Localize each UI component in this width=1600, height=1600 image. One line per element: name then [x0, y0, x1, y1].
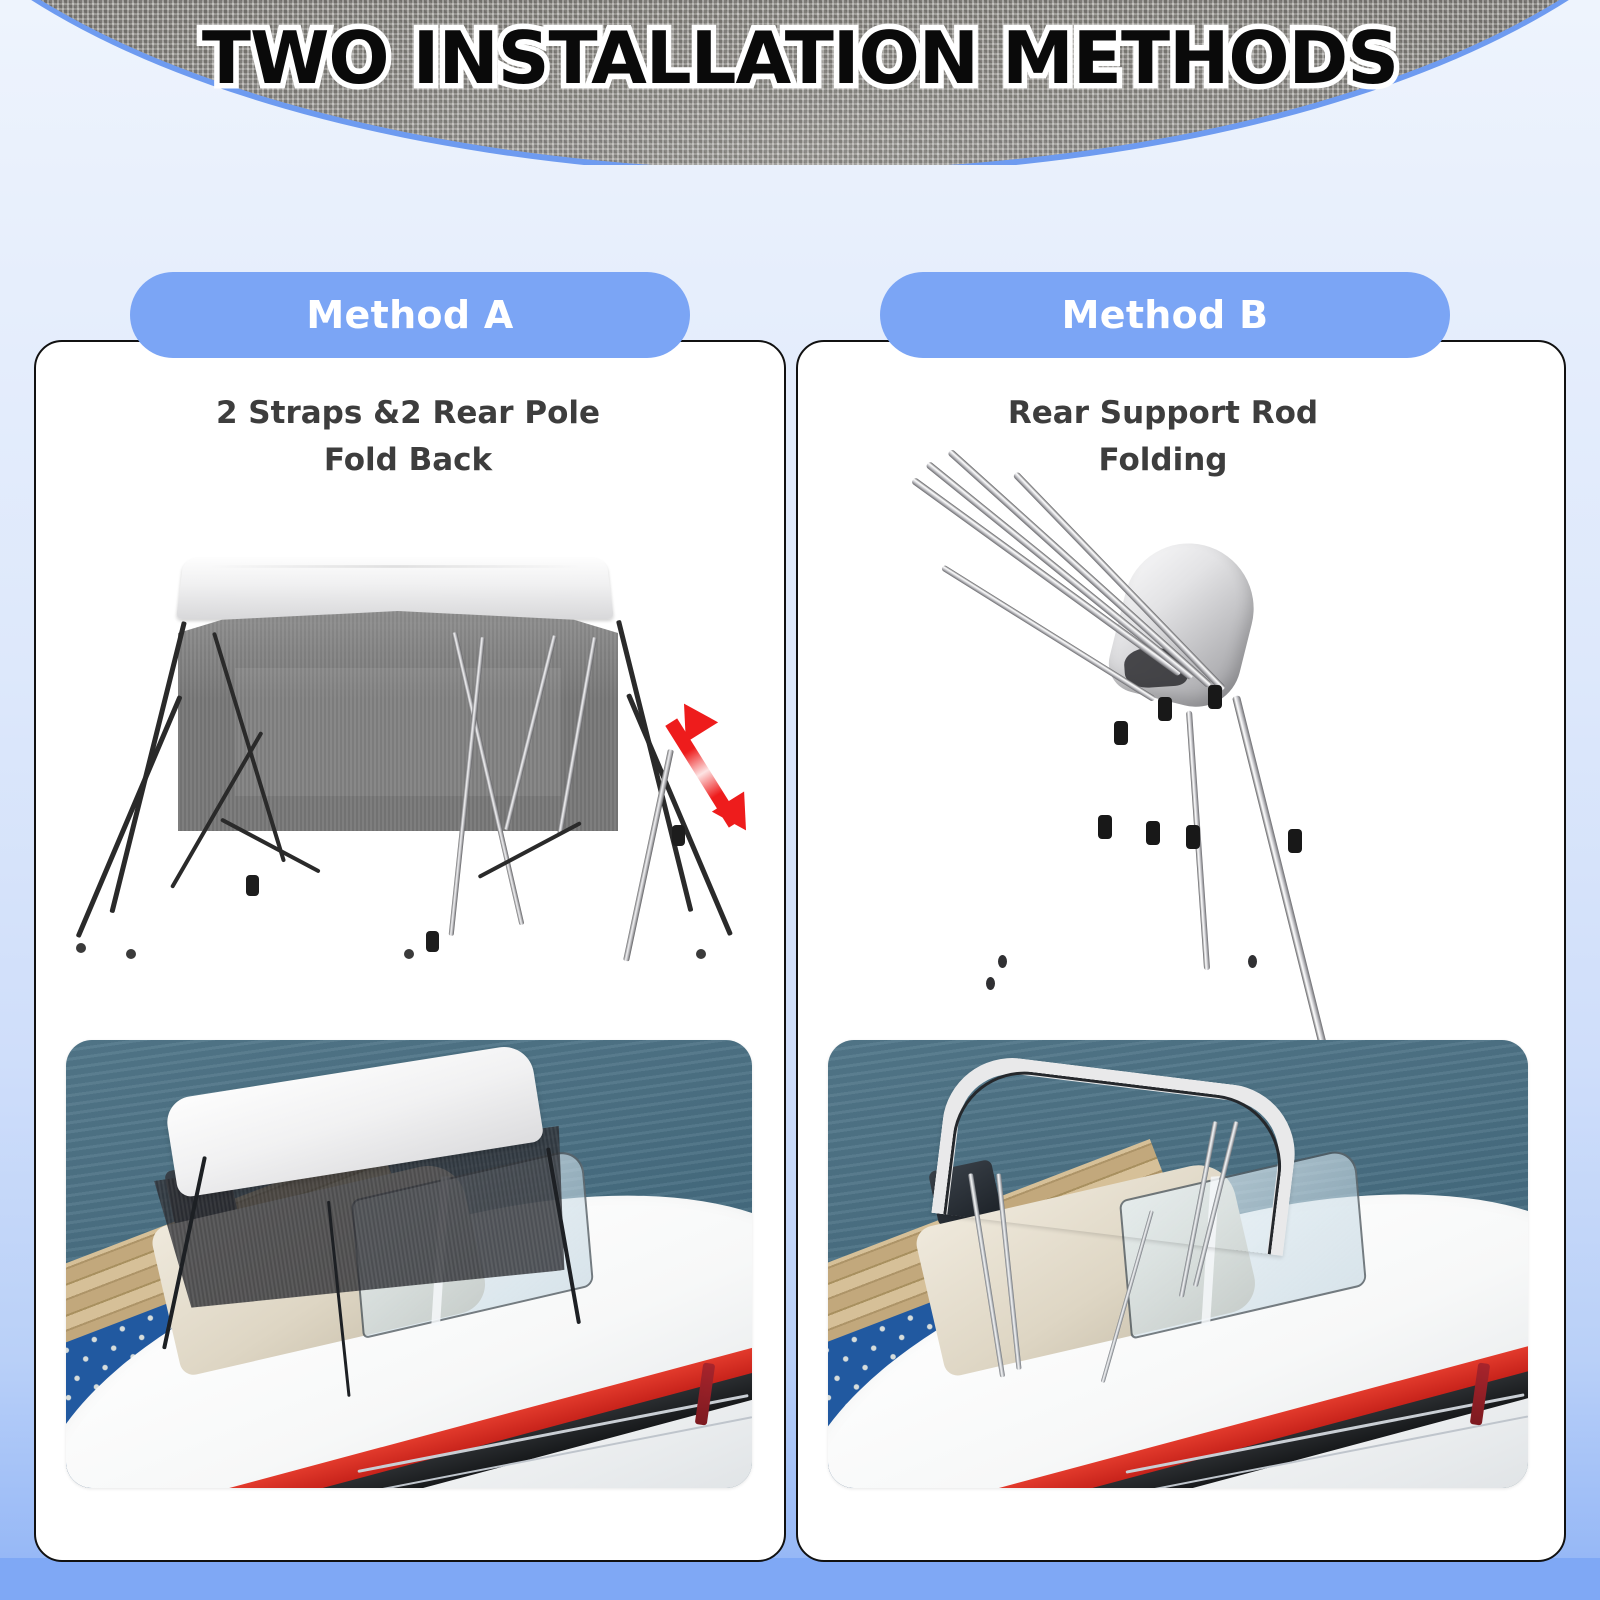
method-a-subtitle: 2 Straps &2 Rear Pole Fold Back	[128, 390, 688, 483]
brace-clamp-2-icon	[426, 931, 439, 952]
rod-clamp-5-icon	[1146, 821, 1160, 845]
method-a-badge: Method A	[130, 272, 690, 358]
rod-tip-4-icon	[1248, 955, 1257, 968]
method-b-illustration	[830, 525, 1530, 965]
method-b-photo	[828, 1040, 1528, 1488]
method-b-badge: Method B	[880, 272, 1450, 358]
method-b-subtitle-line1: Rear Support Rod	[880, 390, 1446, 437]
rod-clamp-7-icon	[1288, 829, 1302, 853]
method-a-subtitle-line1: 2 Straps &2 Rear Pole	[128, 390, 688, 437]
method-a-photo	[66, 1040, 752, 1488]
rod-tip-1-icon	[998, 955, 1007, 968]
brace-clamp-1-icon	[246, 875, 259, 896]
method-a-subtitle-line2: Fold Back	[128, 437, 688, 484]
rod-clamp-3-icon	[1114, 721, 1128, 745]
bimini-canopy-top-icon	[176, 558, 614, 619]
rod-clamp-2-icon	[1158, 697, 1172, 721]
red-double-arrow-icon	[660, 695, 770, 845]
rod-tip-2-icon	[986, 977, 995, 990]
pole-foot-3-icon	[404, 949, 414, 959]
method-b-subtitle-line2: Folding	[880, 437, 1446, 484]
rod-clamp-1-icon	[1208, 685, 1222, 709]
pole-foot-2-icon	[126, 949, 136, 959]
header-banner: TWO INSTALLATION METHODS	[0, 0, 1600, 165]
rod-clamp-6-icon	[1186, 825, 1200, 849]
pole-foot-1-icon	[76, 943, 86, 953]
method-a-illustration	[60, 545, 760, 965]
outer-leg-left-icon	[76, 695, 183, 938]
footer-blue-band	[0, 1558, 1600, 1600]
method-b-subtitle: Rear Support Rod Folding	[880, 390, 1446, 483]
page-title: TWO INSTALLATION METHODS	[0, 16, 1600, 100]
pole-foot-4-icon	[696, 949, 706, 959]
rod-clamp-4-icon	[1098, 815, 1112, 839]
